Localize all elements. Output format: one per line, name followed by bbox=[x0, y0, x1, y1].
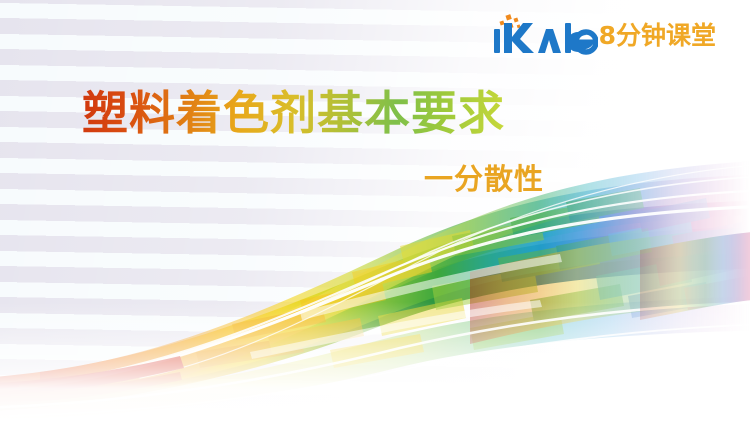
kala-wordmark-icon bbox=[490, 13, 598, 57]
title-slide: 8分钟课堂 塑料着色剂基本要求 一分散性 bbox=[0, 0, 750, 422]
logo-tagline: 8分钟课堂 bbox=[599, 23, 716, 48]
background-fade-bottom bbox=[0, 302, 750, 422]
page-subtitle: 一分散性 bbox=[424, 156, 544, 198]
brand-logo[interactable]: 8分钟课堂 bbox=[490, 12, 716, 58]
page-title: 塑料着色剂基本要求 bbox=[82, 88, 505, 140]
